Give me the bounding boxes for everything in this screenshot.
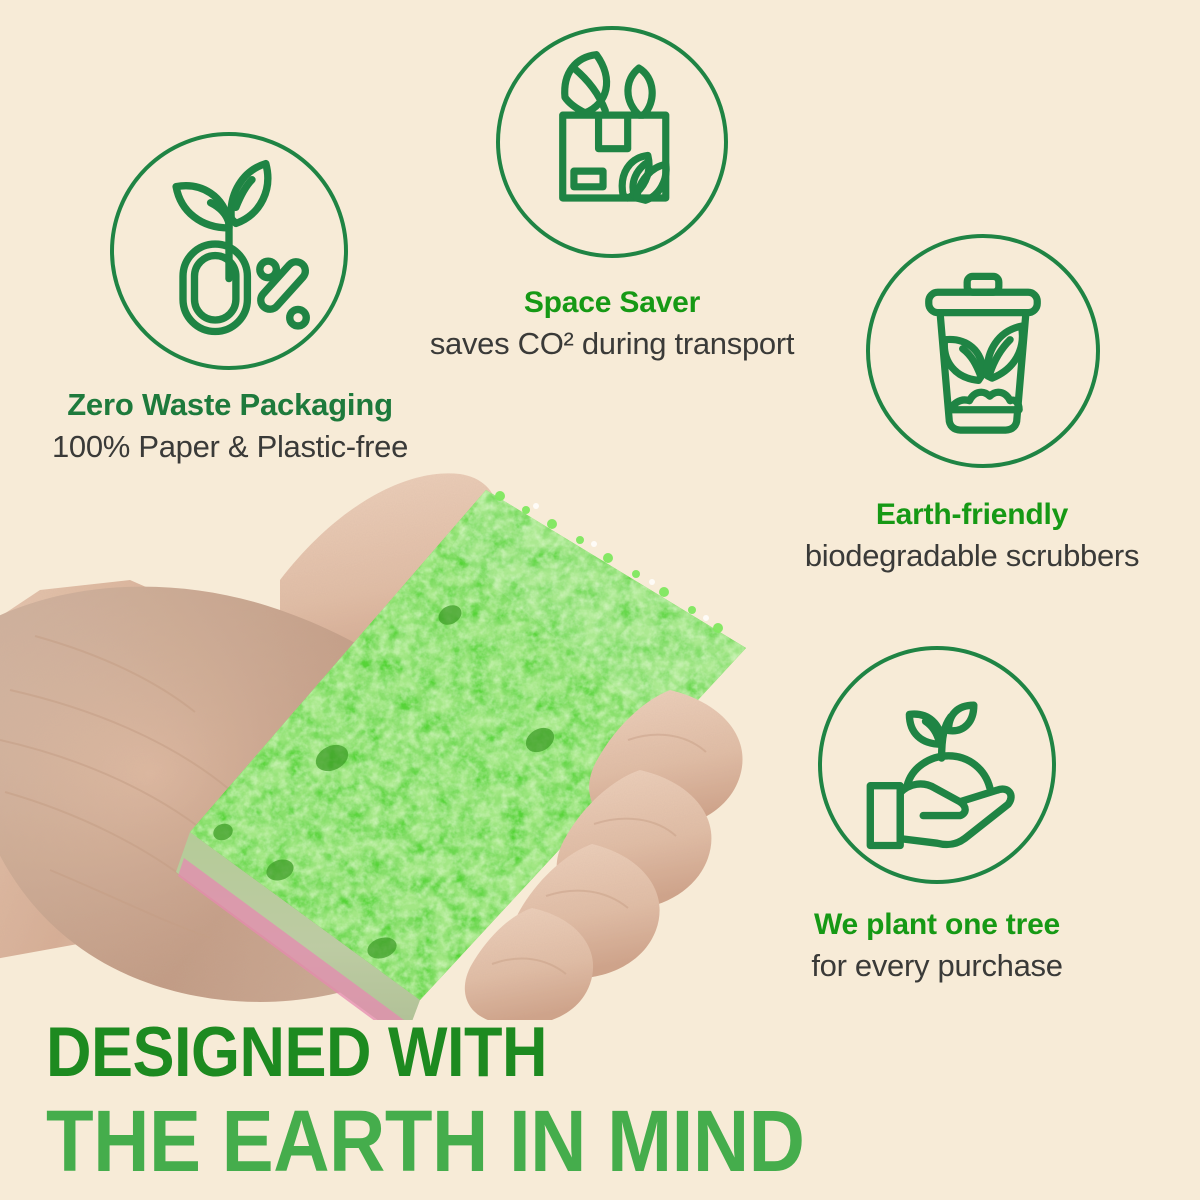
headline-line-2: THE EARTH IN MIND — [46, 1097, 1046, 1184]
feature-2-text: Space Saver saves CO² during transport — [382, 286, 842, 361]
feature-4-text: We plant one tree for every purchase — [707, 908, 1167, 983]
feature-2-title: Space Saver — [382, 286, 842, 320]
feature-3-subtitle: biodegradable scrubbers — [742, 538, 1200, 574]
compost-bin-leaf-icon — [866, 234, 1100, 468]
headline-block: DESIGNED WITH THE EARTH IN MIND — [46, 1018, 1046, 1175]
hand-holding-green-sponge — [0, 440, 770, 1020]
feature-3-text: Earth-friendly biodegradable scrubbers — [742, 498, 1200, 573]
package-box-leaf-icon — [496, 26, 728, 258]
hand-holding-sprout-icon — [818, 646, 1056, 884]
headline-line-1: DESIGNED WITH — [46, 1018, 1046, 1089]
feature-3-title: Earth-friendly — [742, 498, 1200, 532]
feature-4-title: We plant one tree — [707, 908, 1167, 942]
zero-percent-sprout-icon — [110, 132, 348, 370]
feature-1-text: Zero Waste Packaging 100% Paper & Plasti… — [0, 388, 460, 464]
feature-1-subtitle: 100% Paper & Plastic-free — [0, 429, 460, 465]
feature-4-subtitle: for every purchase — [707, 948, 1167, 984]
feature-2-subtitle: saves CO² during transport — [382, 326, 842, 362]
feature-1-title: Zero Waste Packaging — [0, 388, 460, 423]
infographic-canvas: Zero Waste Packaging 100% Paper & Plasti… — [0, 0, 1200, 1200]
